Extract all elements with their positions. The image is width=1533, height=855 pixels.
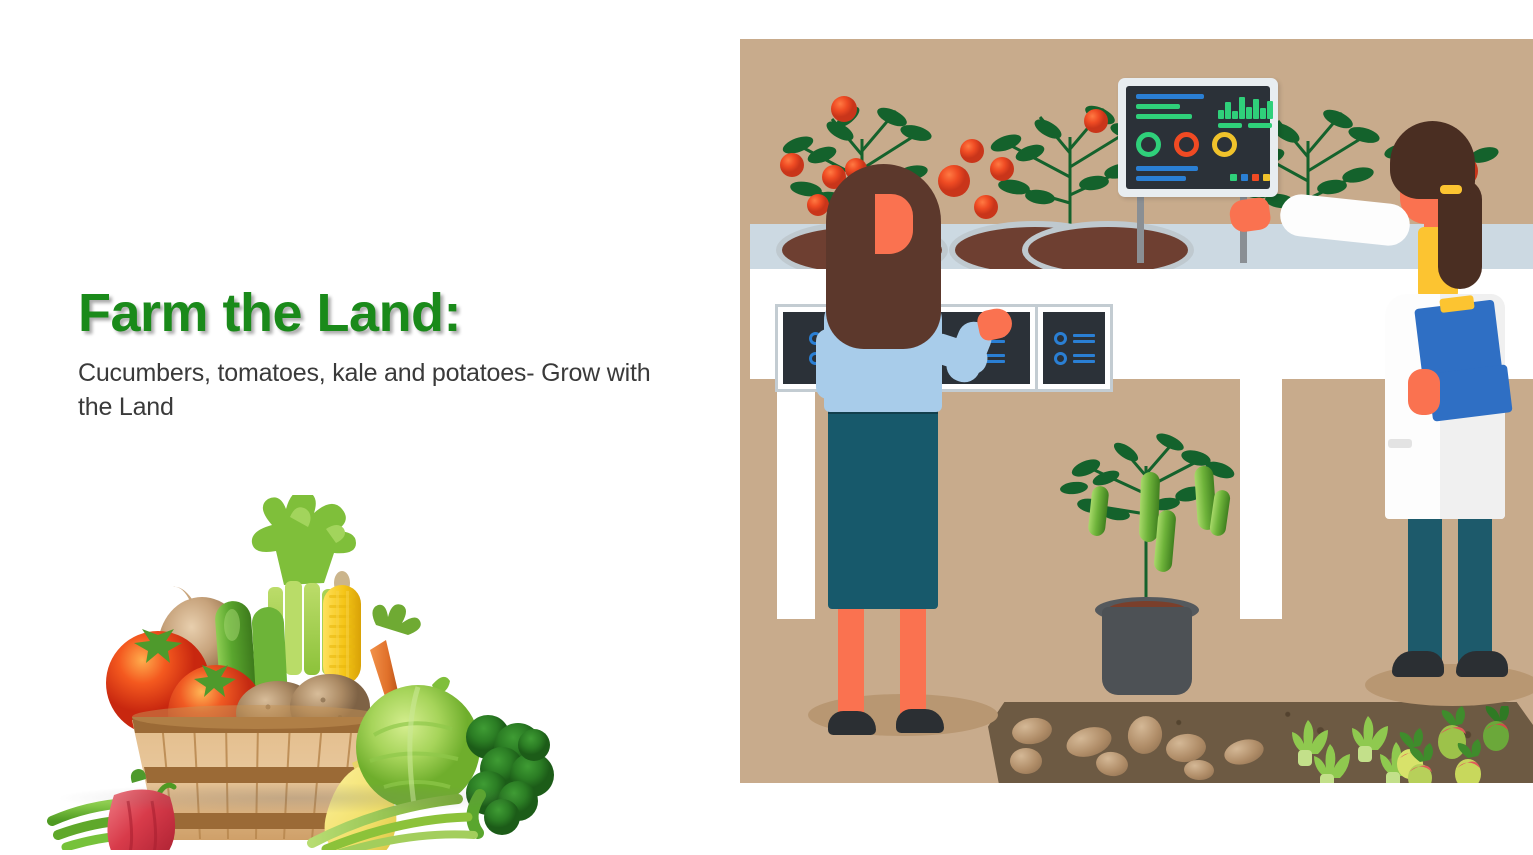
potato <box>1010 748 1042 774</box>
scientist-hair <box>1390 121 1475 199</box>
screen-legend-swatch <box>1252 174 1259 181</box>
scientist-shoe-left <box>1392 651 1444 677</box>
scientist-leg-right <box>1458 509 1492 669</box>
screen-text-line <box>1136 176 1186 181</box>
technician-hair <box>826 164 941 349</box>
screen-axis-line <box>1248 123 1272 128</box>
scientist-hand-holding <box>1408 369 1440 415</box>
garden-bed <box>988 702 1533 783</box>
scientist-shoe-right <box>1456 651 1508 677</box>
panel-bars-icon <box>1073 354 1095 363</box>
monitor-screen <box>1126 86 1270 189</box>
panel-bars-icon <box>1073 334 1095 343</box>
broccoli <box>466 715 554 835</box>
technician-skirt <box>828 409 938 609</box>
dashboard-monitor[interactable] <box>1118 78 1278 197</box>
screen-text-line <box>1136 166 1198 171</box>
cucumber-plant-svg <box>1030 414 1280 614</box>
planter-bed-3 <box>1028 227 1188 273</box>
technician-shoe-left <box>828 711 876 735</box>
corn-cob <box>323 571 361 685</box>
slide-canvas: Farm the Land: Cucumbers, tomatoes, kale… <box>0 0 1533 850</box>
screen-donut-red <box>1174 132 1199 157</box>
control-panel-3[interactable] <box>1035 304 1113 392</box>
basket-shadow <box>60 783 530 813</box>
screen-legend-swatch <box>1263 174 1270 181</box>
bench-leg-left <box>777 379 815 619</box>
page-title: Farm the Land: <box>78 285 658 342</box>
technician-face <box>875 194 913 254</box>
screen-legend-swatch <box>1241 174 1248 181</box>
screen-donut-yellow <box>1212 132 1237 157</box>
screen-donut-green <box>1136 132 1161 157</box>
screen-axis-line <box>1218 123 1242 128</box>
technician-arm-left <box>816 329 840 399</box>
plant-pot <box>1102 607 1192 695</box>
technician-shoe-right <box>896 709 944 733</box>
radish-plants <box>1388 706 1533 783</box>
technician-leg-right <box>900 599 926 724</box>
scientist-leg-left <box>1408 509 1442 669</box>
scientist-sleeve-cuff <box>1388 439 1412 448</box>
vegetable-basket-image <box>40 495 560 850</box>
panel-dial-icon <box>1054 352 1067 365</box>
screen-text-line <box>1136 94 1204 99</box>
screen-bar-chart <box>1218 93 1272 119</box>
technician-leg-left <box>838 599 864 724</box>
screen-text-line <box>1136 104 1180 109</box>
screen-legend-swatch <box>1230 174 1237 181</box>
monitor-stand-left <box>1137 195 1144 263</box>
scientist-hair-tie <box>1440 185 1462 194</box>
screen-text-line <box>1136 114 1192 119</box>
page-subtitle: Cucumbers, tomatoes, kale and potatoes- … <box>78 356 658 425</box>
text-block: Farm the Land: Cucumbers, tomatoes, kale… <box>78 285 658 425</box>
panel-dial-icon <box>1054 332 1067 345</box>
lab-illustration <box>740 39 1533 783</box>
scientist-clipboard-lower <box>1427 364 1512 421</box>
